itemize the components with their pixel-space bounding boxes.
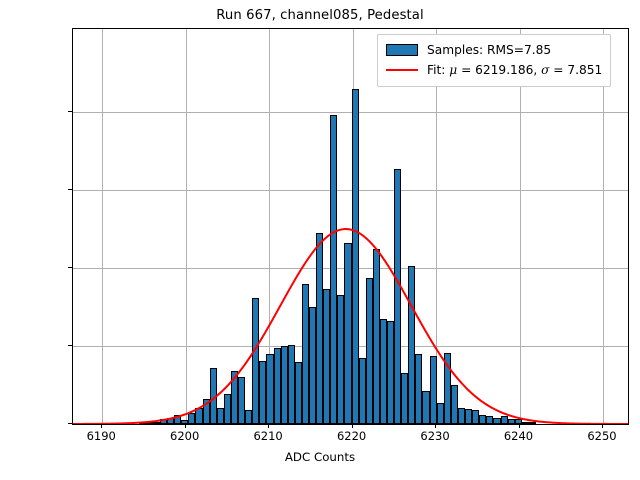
histogram-bar xyxy=(344,243,351,424)
histogram-bar xyxy=(146,422,153,424)
histogram-bar xyxy=(309,307,316,424)
histogram-bar xyxy=(195,408,202,424)
y-tick-mark xyxy=(68,267,72,268)
histogram-bar xyxy=(501,416,508,424)
histogram-bar xyxy=(394,169,401,424)
histogram-bar xyxy=(337,295,344,424)
plot-area xyxy=(73,29,628,424)
x-tick-label: 6210 xyxy=(253,429,282,443)
histogram-bar xyxy=(302,284,309,424)
gridline-vertical xyxy=(603,29,604,424)
histogram-bar xyxy=(174,415,181,424)
histogram-bar xyxy=(352,89,359,424)
x-axis-label: ADC Counts xyxy=(0,450,640,464)
histogram-bar xyxy=(245,410,252,424)
legend-label-samples: Samples: RMS=7.85 xyxy=(427,43,551,57)
gridline-vertical xyxy=(520,29,521,424)
histogram-bar xyxy=(444,353,451,424)
histogram-bar xyxy=(167,418,174,424)
histogram-bar xyxy=(316,233,323,424)
legend-line-icon xyxy=(386,64,418,76)
histogram-bar xyxy=(408,266,415,424)
y-tick-mark xyxy=(68,111,72,112)
y-tick-mark xyxy=(68,345,72,346)
histogram-bar xyxy=(323,289,330,424)
histogram-bar xyxy=(160,419,167,424)
histogram-bar xyxy=(465,409,472,424)
legend-label-fit: Fit: μ = 6219.186, σ = 7.851 xyxy=(427,63,602,77)
histogram-bar xyxy=(288,345,295,424)
y-tick-mark xyxy=(68,189,72,190)
x-tick-mark xyxy=(185,424,186,428)
gridline-vertical xyxy=(102,29,103,424)
histogram-bar xyxy=(281,346,288,424)
gridline-vertical xyxy=(186,29,187,424)
histogram-bar xyxy=(210,368,217,424)
histogram-bar xyxy=(366,278,373,424)
x-tick-label: 6250 xyxy=(587,429,616,443)
legend-patch-icon xyxy=(386,44,418,56)
x-tick-mark xyxy=(602,424,603,428)
histogram-bar xyxy=(266,354,273,424)
histogram-bar xyxy=(295,362,302,424)
histogram-bar xyxy=(188,413,195,424)
gridline-horizontal xyxy=(73,190,628,191)
chart-legend: Samples: RMS=7.85 Fit: μ = 6219.186, σ =… xyxy=(377,34,611,87)
x-tick-mark xyxy=(435,424,436,428)
legend-item-samples: Samples: RMS=7.85 xyxy=(386,40,602,60)
x-tick-mark xyxy=(519,424,520,428)
histogram-bar xyxy=(401,373,408,424)
histogram-bar xyxy=(139,422,146,424)
x-tick-label: 6190 xyxy=(87,429,116,443)
histogram-bar xyxy=(231,371,238,424)
histogram-bar xyxy=(217,408,224,424)
histogram-bar xyxy=(380,319,387,424)
x-tick-label: 6240 xyxy=(504,429,533,443)
histogram-bar xyxy=(153,422,160,424)
histogram-bar xyxy=(472,410,479,424)
x-tick-label: 6230 xyxy=(420,429,449,443)
x-tick-label: 6200 xyxy=(170,429,199,443)
histogram-bar xyxy=(458,408,465,424)
histogram-bar xyxy=(529,422,536,424)
histogram-bar xyxy=(451,385,458,424)
histogram-bar xyxy=(422,391,429,424)
legend-item-fit: Fit: μ = 6219.186, σ = 7.851 xyxy=(386,60,602,80)
histogram-bar xyxy=(373,249,380,424)
histogram-bar xyxy=(224,394,231,424)
plot-axes xyxy=(72,28,629,425)
histogram-bar xyxy=(486,416,493,424)
histogram-bar xyxy=(430,356,437,424)
histogram-bar xyxy=(479,415,486,424)
histogram-bar xyxy=(387,321,394,424)
histogram-bar xyxy=(437,403,444,424)
x-tick-mark xyxy=(268,424,269,428)
histogram-bar xyxy=(259,361,266,424)
matplotlib-figure: Run 667, channel085, Pedestal Entries AD… xyxy=(0,0,640,480)
histogram-bar xyxy=(274,348,281,424)
y-tick-mark xyxy=(68,423,72,424)
histogram-bar xyxy=(522,422,529,424)
page-title: Run 667, channel085, Pedestal xyxy=(0,8,640,23)
legend-fit-mu: 6219.186 xyxy=(475,63,533,77)
histogram-bar xyxy=(238,377,245,424)
legend-fit-sigma: 7.851 xyxy=(567,63,602,77)
histogram-bar xyxy=(330,115,337,424)
x-tick-mark xyxy=(101,424,102,428)
histogram-bar xyxy=(493,418,500,424)
histogram-bar xyxy=(415,354,422,424)
histogram-bar xyxy=(359,358,366,424)
histogram-bar xyxy=(203,399,210,424)
histogram-bar xyxy=(508,419,515,424)
gridline-horizontal xyxy=(73,112,628,113)
histogram-bar xyxy=(252,298,259,424)
x-tick-label: 6220 xyxy=(337,429,366,443)
x-tick-mark xyxy=(352,424,353,428)
